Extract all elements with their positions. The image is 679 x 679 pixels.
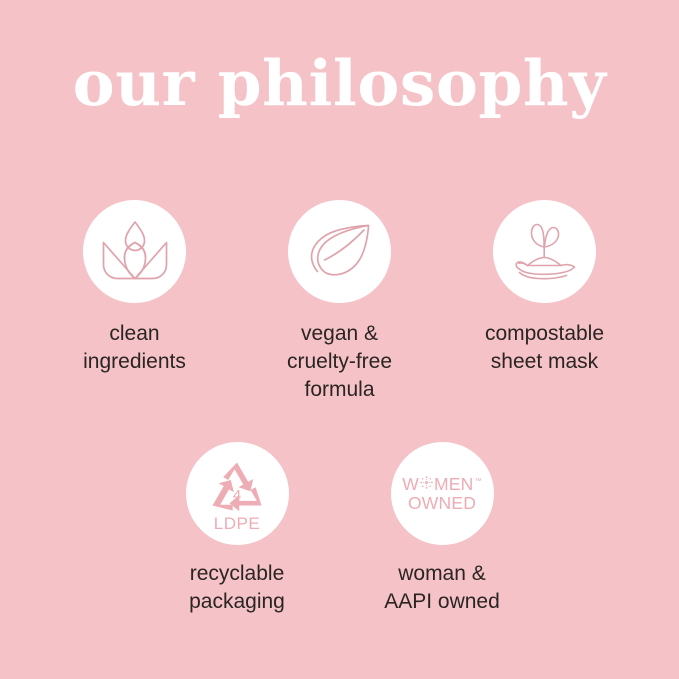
trademark-mark: ™	[475, 478, 482, 485]
badge-circle-woman-aapi-owned: W	[391, 442, 494, 545]
feature-item-vegan-cruelty-free[interactable]: vegan & cruelty-free formula	[237, 200, 442, 404]
feature-row-bottom: 4 LDPE recyclable packaging W	[0, 442, 679, 616]
resin-code-name: LDPE	[214, 514, 260, 532]
feature-item-woman-aapi-owned[interactable]: W	[340, 442, 545, 616]
feature-item-clean-ingredients[interactable]: clean ingredients	[32, 200, 237, 404]
badge-circle-clean-ingredients	[83, 200, 186, 303]
feature-label-recyclable-packaging: recyclable packaging	[189, 560, 285, 616]
resin-code-number: 4	[233, 487, 241, 504]
leaf-icon	[304, 219, 376, 285]
page-title: our philosophy	[0, 52, 679, 115]
lotus-droplet-icon	[98, 217, 172, 287]
feature-row-top: clean ingredients ve	[0, 200, 679, 404]
women-owned-owned: OWNED	[408, 495, 476, 513]
feature-label-compostable-sheet-mask: compostable sheet mask	[485, 320, 604, 376]
feature-label-clean-ingredients: clean ingredients	[83, 320, 186, 376]
badge-circle-compostable-sheet-mask	[493, 200, 596, 303]
feature-label-woman-aapi-owned: woman & AAPI owned	[384, 560, 500, 616]
philosophy-panel: our philosophy	[0, 0, 679, 679]
starburst-icon	[419, 475, 434, 490]
feature-item-recyclable-packaging[interactable]: 4 LDPE recyclable packaging	[135, 442, 340, 616]
badge-circle-recyclable-packaging: 4 LDPE	[186, 442, 289, 545]
badge-circle-vegan-cruelty-free	[288, 200, 391, 303]
recycling-ldpe-icon: 4 LDPE	[201, 456, 273, 532]
women-owned-w: W	[402, 476, 419, 494]
women-owned-icon: W	[402, 475, 481, 512]
hand-seedling-icon	[507, 219, 583, 285]
feature-label-vegan-cruelty-free: vegan & cruelty-free formula	[287, 320, 392, 404]
feature-item-compostable-sheet-mask[interactable]: compostable sheet mask	[442, 200, 647, 404]
women-owned-men: MEN	[434, 476, 474, 494]
